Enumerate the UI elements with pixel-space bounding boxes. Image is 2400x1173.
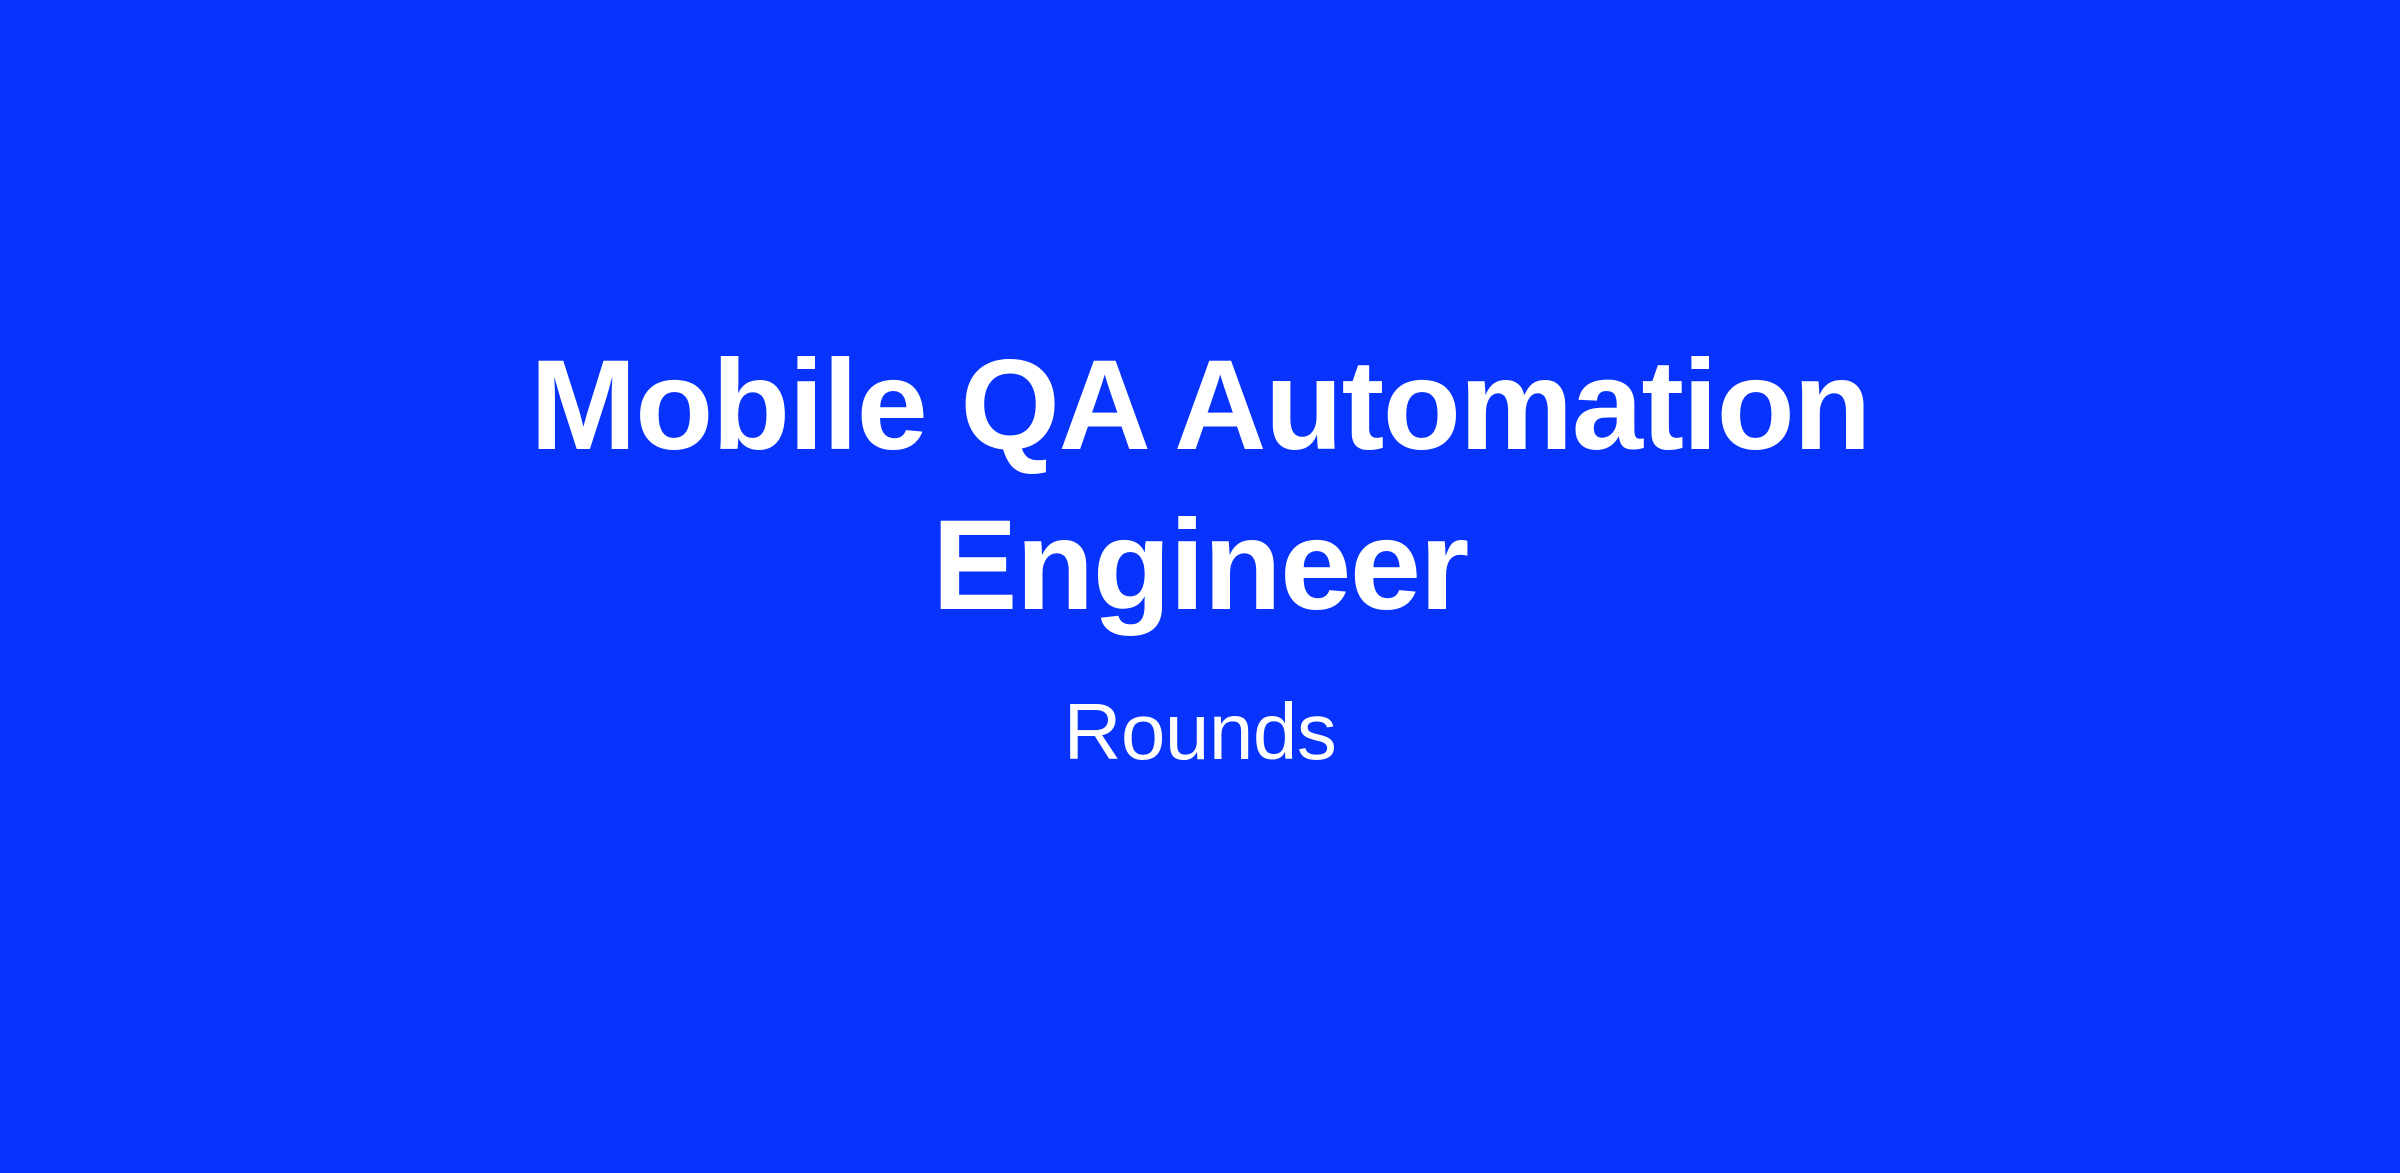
hero-content: Mobile QA Automation Engineer Rounds bbox=[530, 326, 1870, 776]
company-name: Rounds bbox=[1064, 688, 1337, 776]
hero-banner: Mobile QA Automation Engineer Rounds bbox=[0, 0, 2400, 1173]
page-title: Mobile QA Automation Engineer bbox=[530, 326, 1870, 646]
